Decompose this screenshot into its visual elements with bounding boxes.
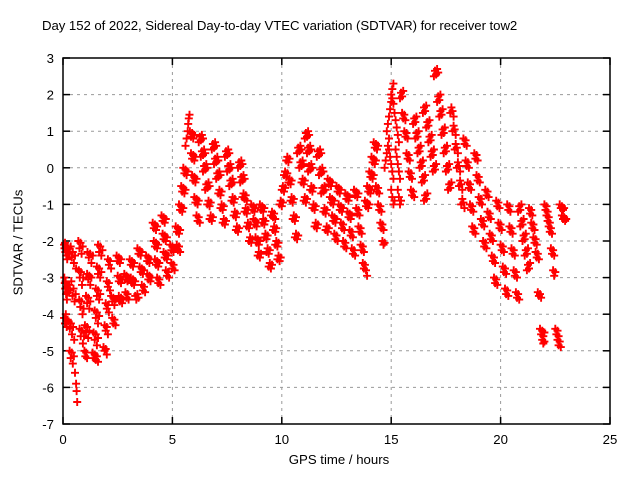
x-tick-label: 20 bbox=[493, 432, 508, 447]
plot-canvas: 0510152025 3210-1-2-3-4-5-6-7 bbox=[0, 0, 640, 480]
y-tick-label: 2 bbox=[47, 88, 54, 103]
y-tick-label: -7 bbox=[42, 417, 54, 432]
x-tick-label: 25 bbox=[603, 432, 618, 447]
data-points bbox=[60, 65, 570, 406]
y-tick-label: -6 bbox=[42, 380, 54, 395]
x-tick-label: 0 bbox=[59, 432, 66, 447]
x-tick-label: 10 bbox=[274, 432, 289, 447]
y-tick-label: -4 bbox=[42, 307, 54, 322]
x-tick-labels: 0510152025 bbox=[59, 432, 617, 447]
y-tick-labels: 3210-1-2-3-4-5-6-7 bbox=[42, 51, 54, 432]
x-tick-label: 5 bbox=[169, 432, 176, 447]
y-tick-label: 1 bbox=[47, 124, 54, 139]
y-tick-label: -3 bbox=[42, 271, 54, 286]
x-tick-label: 15 bbox=[384, 432, 399, 447]
y-tick-label: 3 bbox=[47, 51, 54, 66]
y-tick-label: 0 bbox=[47, 161, 54, 176]
y-tick-label: -2 bbox=[42, 234, 54, 249]
y-tick-label: -1 bbox=[42, 197, 54, 212]
chart-figure: Day 152 of 2022, Sidereal Day-to-day VTE… bbox=[0, 0, 640, 480]
y-tick-label: -5 bbox=[42, 344, 54, 359]
